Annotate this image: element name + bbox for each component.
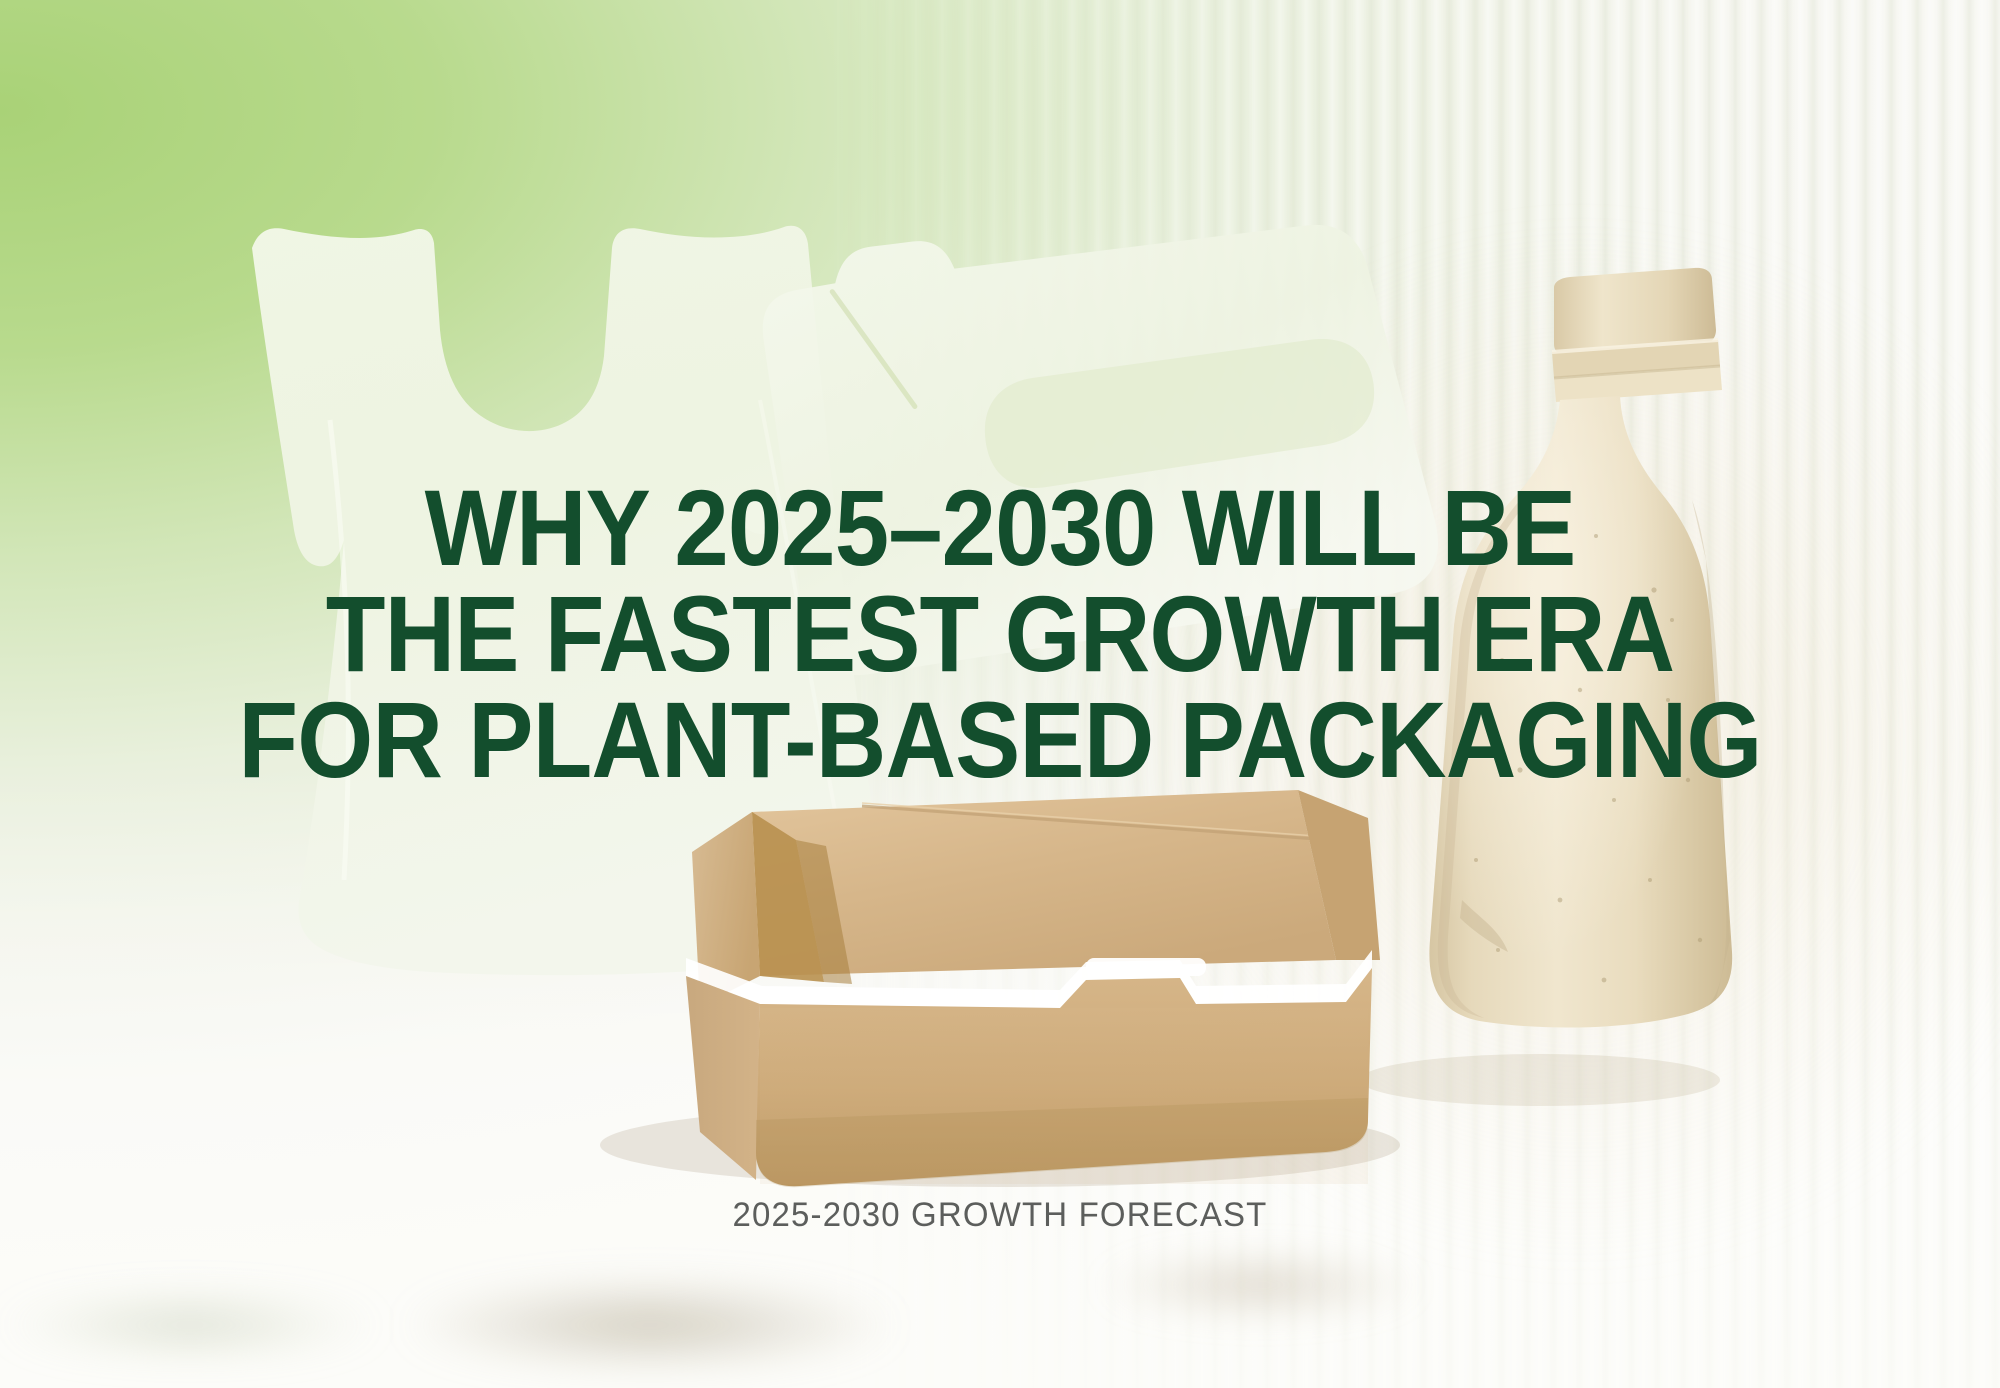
clamshell-tab-slot [1086, 958, 1206, 976]
clamshell-product [0, 0, 2000, 1388]
poster-canvas: WHY 2025–2030 WILL BE THE FASTEST GROWTH… [0, 0, 2000, 1388]
